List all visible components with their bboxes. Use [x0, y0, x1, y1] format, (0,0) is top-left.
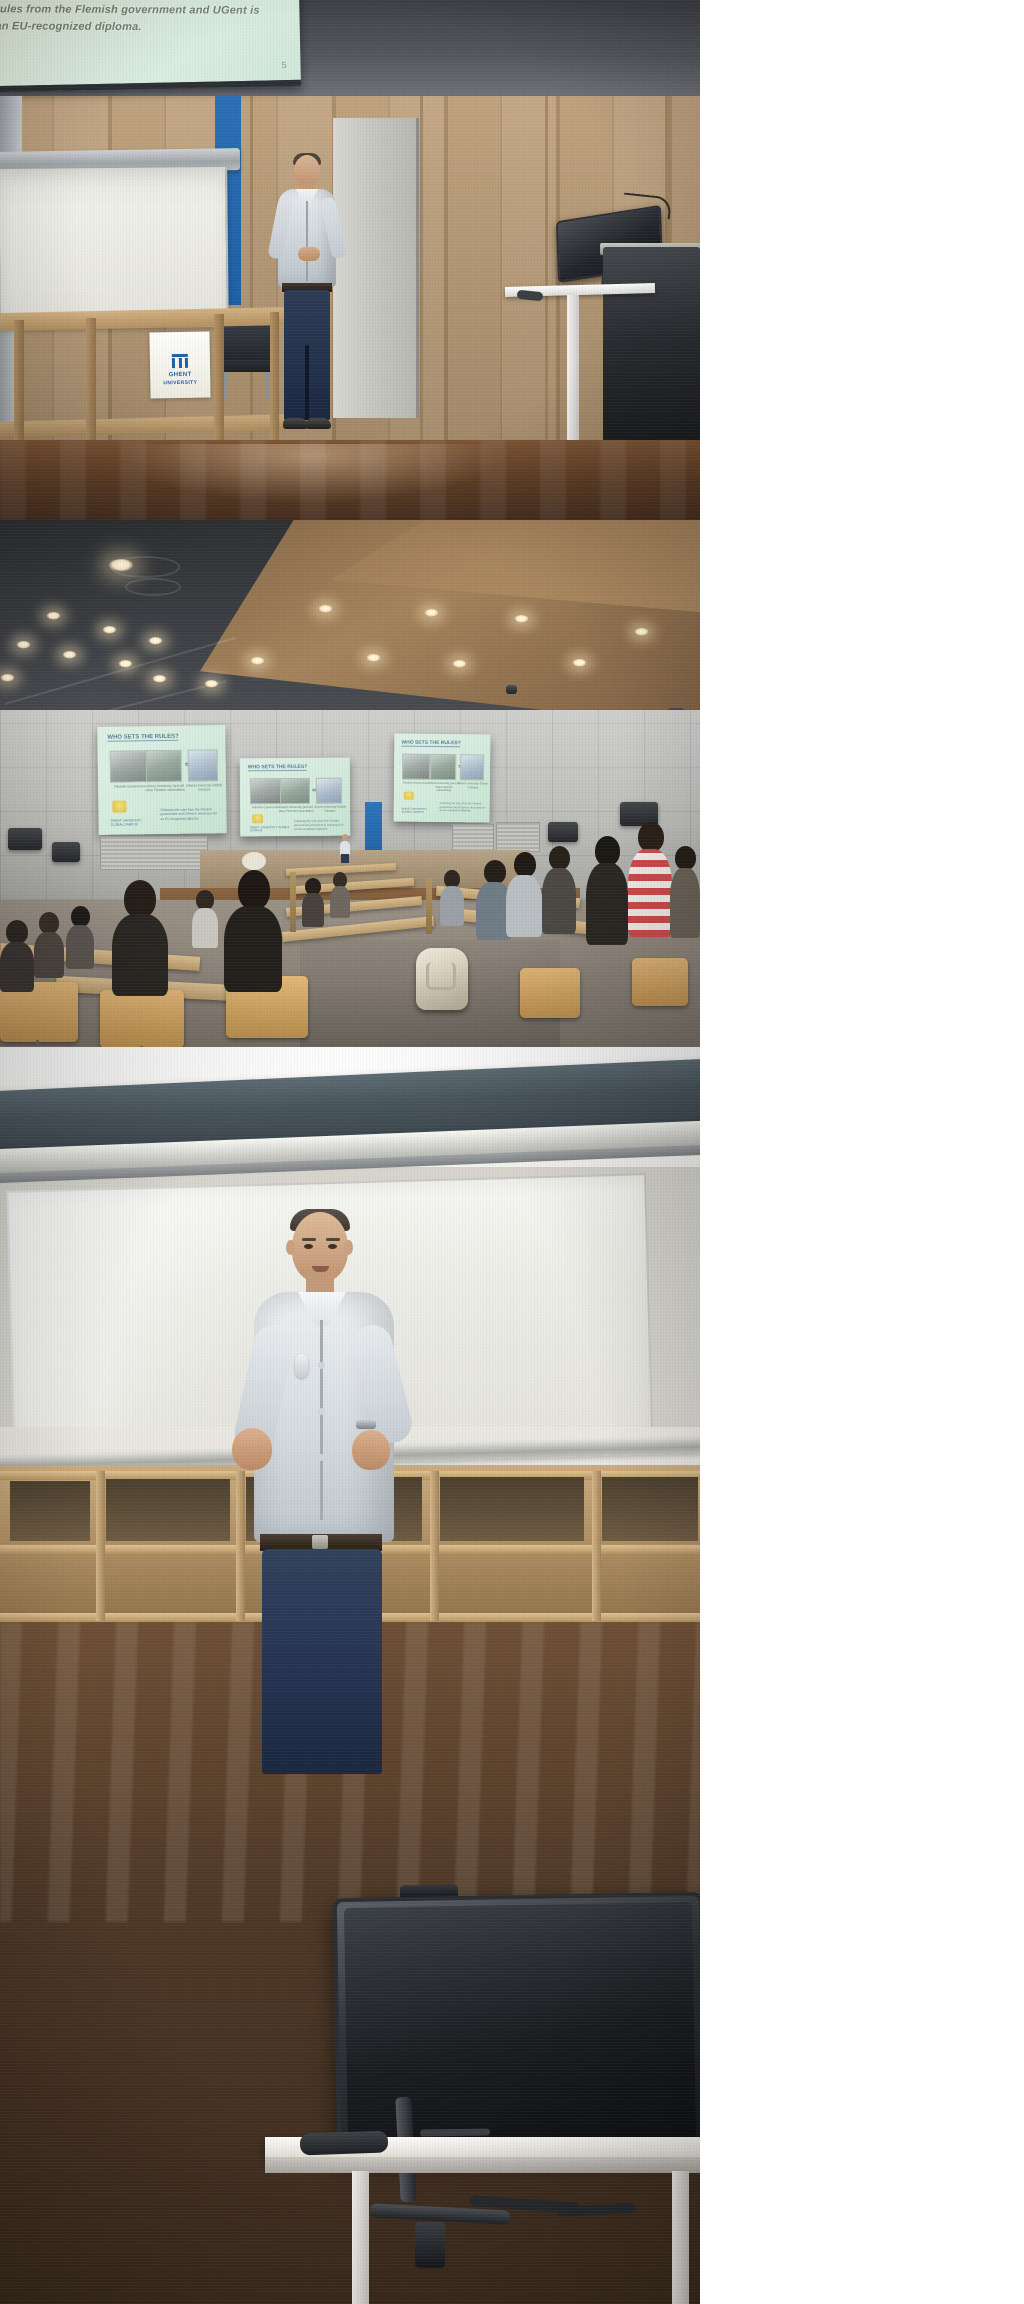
photo-collage: rules from the Flemish government and UG… [0, 0, 1024, 2304]
shirt-button [318, 1362, 325, 1369]
ceiling-light [204, 680, 219, 688]
audience-person [542, 846, 576, 932]
wristwatch [356, 1420, 376, 1429]
body [670, 868, 700, 938]
banner-logo-sub: UNIVERSITY [150, 379, 210, 386]
desk-clamp [415, 2222, 445, 2268]
window-blind [100, 836, 208, 870]
audience-person [440, 870, 464, 922]
photo-presenter-closeup [0, 1047, 700, 2304]
ceiling-light [102, 626, 117, 634]
cabinet-recess [106, 1479, 230, 1541]
body [586, 863, 628, 945]
shirt-button [318, 1408, 325, 1415]
ear-right [344, 1240, 353, 1255]
slide-image-parliament [402, 754, 430, 780]
shirt-placket [320, 1320, 323, 1520]
audience-person-hairbow [240, 852, 268, 886]
head [342, 834, 348, 841]
wall-speaker [52, 842, 80, 862]
slide-logo-text: GHENT UNIVERSITY GLOBAL CAMPUS [250, 826, 290, 833]
projection-screen: rules from the Flemish government and UG… [0, 0, 301, 92]
ceiling-light [16, 641, 31, 649]
legs [341, 854, 349, 863]
ceiling-light [46, 612, 61, 620]
head [638, 822, 664, 852]
stage-top-rail [0, 307, 290, 331]
desk-leg [672, 2171, 689, 2304]
slide-note: Following the rules from the Flemish gov… [294, 820, 346, 832]
projection-screen-right: WHO SETS THE RULES? ⇒ ⇒ Flemish Governme… [394, 733, 491, 822]
slide-note: Following the rules from the Flemish gov… [160, 807, 220, 821]
slide-caption-2: Ghent University (and all other Flemish … [278, 806, 314, 814]
head [71, 906, 90, 927]
hair-accessory [242, 852, 266, 870]
backpack [416, 948, 468, 1010]
ceiling-ring [125, 578, 181, 596]
slide-line-2: an EU-recognized diploma. [0, 18, 286, 37]
slide-image-campus [316, 778, 342, 804]
body [506, 875, 542, 937]
body [66, 925, 94, 969]
desk-side-panel [290, 872, 296, 932]
cabinet-divider [592, 1471, 601, 1621]
shoe-right [306, 418, 331, 429]
slide-line-1: rules from the Flemish government and UG… [0, 1, 286, 20]
stage-leg [14, 320, 24, 450]
audience-person [670, 846, 700, 936]
head [484, 860, 506, 884]
ceiling-light [118, 660, 133, 668]
cabinet-recess [440, 1477, 584, 1541]
belt-buckle [312, 1535, 328, 1549]
slide-caption-3: Ghent University Global Campus [186, 783, 222, 792]
desk-leg [352, 2171, 369, 2304]
slide-title: WHO SETS THE RULES? [248, 764, 308, 771]
slide-seal-icon [252, 814, 263, 823]
ceiling-light [366, 654, 381, 662]
head [549, 846, 570, 870]
desk-side-panel [426, 878, 432, 934]
desk-leg [567, 295, 579, 445]
audience-person-foreground [112, 880, 168, 990]
cable [517, 290, 544, 302]
monitor-chin-notch [420, 2128, 490, 2136]
photo-lecture-hall-wide: WHO SETS THE RULES? ⇒ ⇒ Flemish Governme… [0, 520, 700, 1047]
slide-image-parliament [250, 778, 282, 804]
wall-speaker [8, 828, 42, 850]
ceiling-light [0, 674, 15, 682]
eyebrow-right [326, 1238, 340, 1241]
slide-caption-3: Ghent University Global Campus [314, 806, 346, 814]
ceiling-light [634, 628, 649, 636]
window-blind [496, 822, 540, 852]
shoe-left [283, 418, 308, 429]
audience-person [302, 878, 324, 924]
floor-highlight [120, 444, 500, 504]
audience-person [586, 836, 628, 942]
ceiling-light [62, 651, 77, 659]
slide-image-university [146, 750, 182, 782]
slide-logo-text: GHENT UNIVERSITY GLOBAL CAMPUS [111, 818, 155, 827]
head [6, 920, 28, 944]
slide-image-university [280, 778, 310, 804]
slide-caption-2: Ghent University (and all other Flemish … [428, 782, 460, 793]
lectern-with-monitor [505, 195, 700, 460]
presenter-figure [240, 1212, 400, 1772]
head [294, 155, 320, 187]
stage-leg [214, 314, 224, 448]
lapel-microphone [295, 1354, 308, 1378]
slide-seal-icon [112, 801, 126, 813]
projection-screen-center: WHO SETS THE RULES? ⇒ ⇒ Flemish Governme… [240, 758, 351, 837]
body [224, 906, 282, 992]
shirt-placket [306, 201, 308, 281]
chair-foreground [100, 990, 184, 1047]
photo-lecturer-on-stage: rules from the Flemish government and UG… [0, 0, 700, 520]
monitor-base [300, 2130, 389, 2155]
ear-left [286, 1240, 295, 1255]
slide-image-campus [460, 754, 484, 780]
desk-edge [265, 2157, 700, 2173]
body-striped-shirt [628, 849, 672, 937]
ceiling-light [452, 660, 467, 668]
stage-leg [86, 318, 96, 450]
slide-logo-text: GHENT UNIVERSITY GLOBAL CAMPUS [402, 808, 438, 815]
ceiling-light [250, 657, 265, 665]
slide-caption-2: Ghent University (and all other Flemish … [144, 784, 186, 793]
audience-person [506, 852, 542, 936]
body [542, 868, 576, 934]
body [112, 914, 168, 996]
ceiling-light [148, 637, 163, 645]
shirt-button [318, 1454, 325, 1461]
ceiling-camera [506, 685, 517, 694]
slide-title: WHO SETS THE RULES? [107, 734, 178, 742]
ceiling-light [424, 609, 439, 617]
left-hand-fist [232, 1428, 272, 1470]
slide-note: Following the rules from the Flemish gov… [440, 802, 486, 813]
banner-logo-label: GHENT [150, 371, 210, 378]
audience-person [34, 912, 64, 976]
trouser-gap [305, 345, 309, 420]
slide-title: WHO SETS THE RULES? [401, 740, 461, 748]
head [124, 880, 156, 918]
body [340, 841, 350, 855]
slide-seal-icon [404, 792, 414, 800]
projection-screen-left: WHO SETS THE RULES? ⇒ ⇒ Flemish Governme… [97, 725, 226, 835]
slide-page-number: 5 [281, 60, 286, 70]
eye-left [304, 1244, 313, 1249]
audience-person [66, 906, 94, 966]
presenter-figure [270, 155, 342, 455]
audience-person-foreground [224, 870, 282, 986]
body [0, 942, 34, 992]
ceiling-light [152, 675, 167, 683]
audience-person [192, 890, 218, 946]
backpack-strap [426, 962, 456, 990]
audience-person-striped [628, 822, 672, 934]
chair-mid [632, 958, 688, 1006]
cabinet-divider [430, 1471, 439, 1621]
ceiling-light [514, 615, 529, 623]
cabinet-recess [10, 1481, 90, 1541]
body [440, 886, 464, 926]
presenter-distant [340, 834, 350, 862]
stage-lower-rail [0, 414, 290, 438]
slide-image-parliament [110, 750, 150, 783]
right-hand [352, 1430, 390, 1470]
ceiling-light [572, 659, 587, 667]
head [39, 912, 59, 934]
slide-image-university [430, 754, 456, 780]
chair-leg [36, 1040, 39, 1047]
door [333, 118, 419, 418]
eye-right [328, 1244, 337, 1249]
slide-text: rules from the Flemish government and UG… [0, 1, 286, 37]
head [196, 890, 214, 910]
ghent-logo-icon [172, 354, 188, 368]
wall-speaker [548, 822, 578, 842]
slide-caption-3: Ghent University Global Campus [458, 782, 488, 790]
trousers [262, 1549, 382, 1774]
ceiling-light [108, 559, 134, 572]
eyebrow-left [302, 1238, 316, 1241]
body [330, 886, 350, 918]
hands [298, 247, 320, 261]
ceiling-light [318, 605, 333, 613]
audience-person [0, 920, 34, 990]
cabinet-recess [602, 1477, 698, 1541]
body [192, 908, 218, 948]
chair-mid [520, 968, 580, 1018]
cabinet-divider [96, 1471, 105, 1621]
equipment-rack [603, 247, 700, 442]
ghent-university-banner: GHENT UNIVERSITY [149, 331, 210, 398]
body [302, 893, 324, 927]
head [595, 836, 620, 866]
body [34, 932, 64, 978]
audience-person [330, 872, 350, 914]
slide-image-campus [188, 749, 218, 781]
head [514, 852, 536, 877]
head [675, 846, 696, 870]
